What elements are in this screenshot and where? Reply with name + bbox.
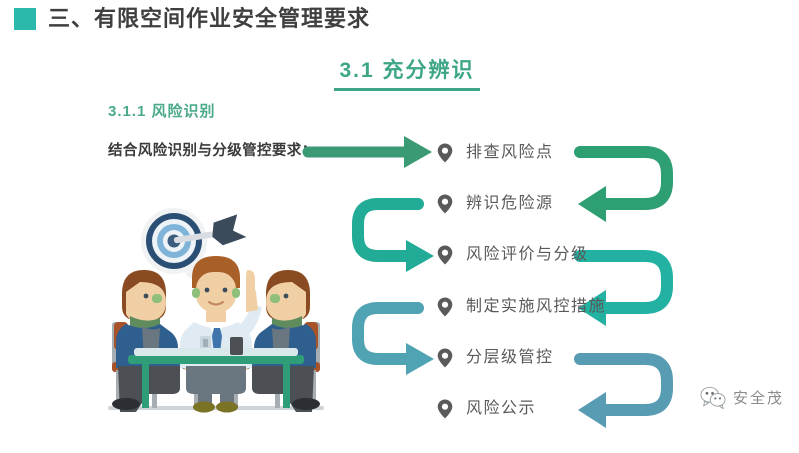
watermark-label: 安全茂 <box>733 387 784 408</box>
list-item-label: 制定实施风控措施 <box>466 296 606 318</box>
list-item[interactable]: 辨识危险源 <box>436 191 554 217</box>
flow-item-list: 排查风险点 辨识危险源 风险评价与分级 制定实施风控措施 <box>436 118 716 438</box>
list-item-label: 风险公示 <box>466 398 536 420</box>
straight-arrow-right-connector <box>308 136 432 168</box>
section-title-block: 3.1 充分辨识 <box>322 57 492 91</box>
c-turn-arrow-right-2 <box>358 308 434 375</box>
list-item[interactable]: 制定实施风控措施 <box>436 294 606 320</box>
section-title-underline <box>334 88 480 91</box>
list-item-label: 排查风险点 <box>466 142 554 164</box>
list-item[interactable]: 分层级管控 <box>436 345 554 371</box>
wechat-icon <box>700 386 726 409</box>
location-pin-icon <box>436 244 454 266</box>
location-pin-icon <box>436 296 454 318</box>
list-item-label: 分层级管控 <box>466 347 554 369</box>
slide-root: 三、有限空间作业安全管理要求 3.1 充分辨识 3.1.1 风险识别 结合风险识… <box>0 0 799 453</box>
header-bullet-square <box>14 8 36 30</box>
location-pin-icon <box>436 398 454 420</box>
c-turn-arrow-right-1 <box>358 204 434 272</box>
person-center <box>180 256 262 413</box>
watermark: 安全茂 <box>700 386 784 409</box>
list-item-label: 辨识危险源 <box>466 193 554 215</box>
location-pin-icon <box>436 142 454 164</box>
slide-header: 三、有限空间作业安全管理要求 <box>14 8 370 30</box>
section-title: 3.1 充分辨识 <box>322 57 492 85</box>
list-item[interactable]: 排查风险点 <box>436 140 554 166</box>
lead-paragraph: 结合风险识别与分级管控要求： <box>108 139 323 163</box>
page-title: 三、有限空间作业安全管理要求 <box>48 8 370 30</box>
location-pin-icon <box>436 193 454 215</box>
location-pin-icon <box>436 347 454 369</box>
subsection-title: 3.1.1 风险识别 <box>108 100 216 121</box>
list-item[interactable]: 风险公示 <box>436 396 536 422</box>
list-item-label: 风险评价与分级 <box>466 244 589 266</box>
list-item[interactable]: 风险评价与分级 <box>436 242 589 268</box>
